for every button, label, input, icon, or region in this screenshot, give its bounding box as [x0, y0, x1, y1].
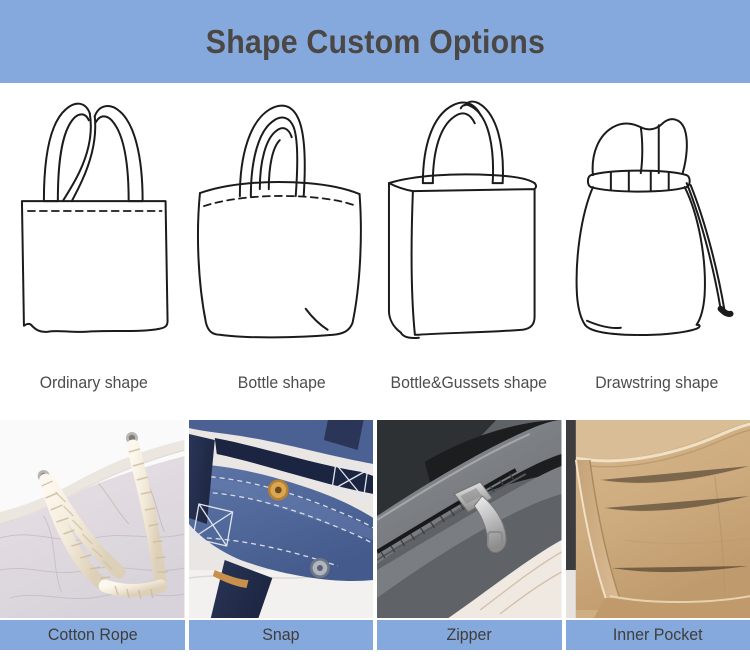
- detail-caption-snap: Snap: [189, 620, 374, 650]
- page-title: Shape Custom Options: [205, 23, 544, 61]
- detail-caption-inner-pocket: Inner Pocket: [566, 620, 750, 650]
- shape-illustration-row: [0, 83, 750, 368]
- shape-illustration-bottle-gussets: [375, 83, 563, 368]
- shape-illustration-drawstring: [563, 83, 750, 368]
- detail-caption-snap-label: Snap: [262, 625, 299, 645]
- detail-caption-cotton-rope: Cotton Rope: [0, 620, 185, 650]
- tote-bag-gusset-icon: [375, 83, 563, 368]
- shape-label-drawstring: Drawstring shape: [569, 373, 743, 393]
- detail-caption-cotton-rope-label: Cotton Rope: [47, 625, 137, 645]
- grey-bag-metal-zipper-pull-image: [377, 420, 562, 618]
- detail-photo-cotton-rope: [0, 420, 185, 618]
- blue-denim-bag-metal-snap-buttons-image: [189, 420, 374, 618]
- shape-label-ordinary: Ordinary shape: [7, 373, 181, 393]
- detail-photo-row: [0, 420, 750, 618]
- detail-photo-snap: [189, 420, 374, 618]
- shape-label-row: Ordinary shape Bottle shape Bottle&Gusse…: [0, 365, 750, 401]
- drawstring-pouch-icon: [563, 83, 750, 368]
- shape-custom-options-panel: Shape Custom Options: [0, 0, 750, 658]
- tote-bag-rounded-icon: [188, 83, 376, 368]
- detail-caption-row: Cotton Rope Snap Zipper Inner Pocket: [0, 620, 750, 650]
- shape-label-bottle-gussets: Bottle&Gussets shape: [382, 373, 556, 393]
- detail-caption-zipper-label: Zipper: [447, 625, 492, 645]
- beige-canvas-bag-inner-pocket-image: [566, 420, 750, 618]
- tote-bag-crossed-handles-icon: [0, 83, 188, 368]
- white-bag-cotton-rope-handles-on-marble-image: [0, 420, 185, 618]
- panel-header: Shape Custom Options: [0, 0, 750, 83]
- detail-photo-inner-pocket: [566, 420, 750, 618]
- shape-illustrations-section: Ordinary shape Bottle shape Bottle&Gusse…: [0, 83, 750, 420]
- detail-photo-zipper: [377, 420, 562, 618]
- shape-label-bottle: Bottle shape: [194, 373, 368, 393]
- detail-caption-inner-pocket-label: Inner Pocket: [613, 625, 703, 645]
- shape-illustration-bottle: [188, 83, 376, 368]
- shape-illustration-ordinary: [0, 83, 188, 368]
- detail-caption-zipper: Zipper: [377, 620, 562, 650]
